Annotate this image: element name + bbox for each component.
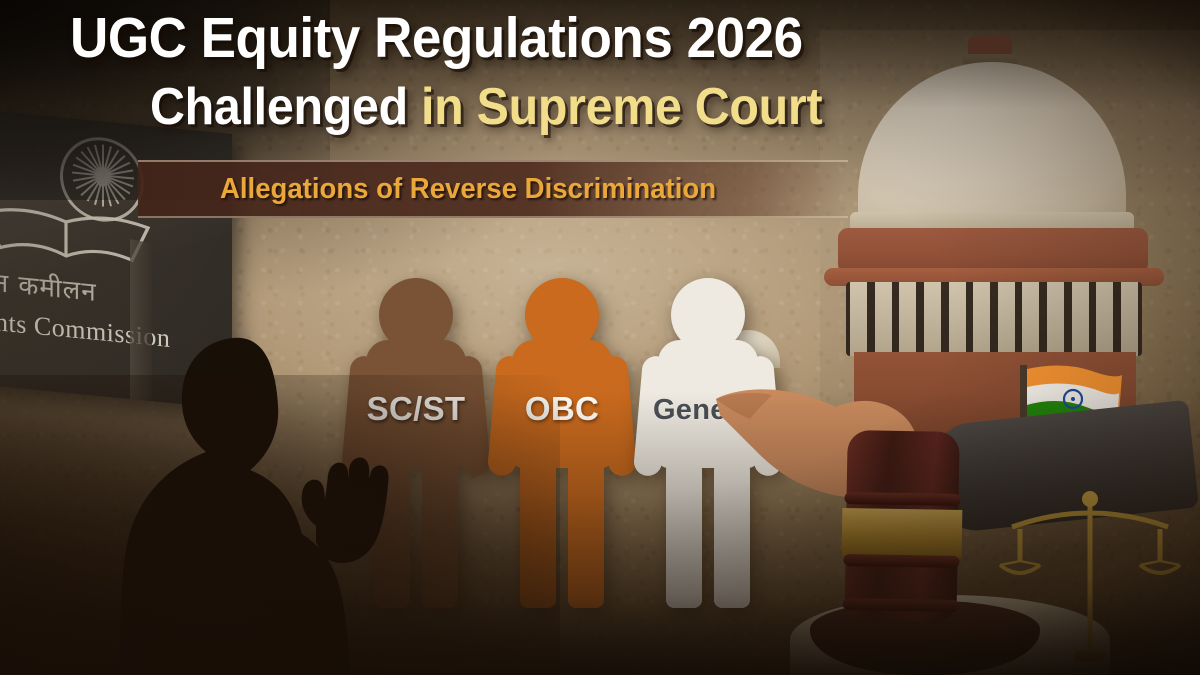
subtitle-text: Allegations of Reverse Discrimination [220,173,716,206]
news-poster: ब उणाह्रन कमीलन sity Grants Commission [0,0,1200,675]
headline-supreme-court: in Supreme Court [421,78,822,136]
headline-line-2: Challenged in Supreme Court [150,80,822,135]
page-title: UGC Equity Regulations 2026 [70,8,803,68]
subtitle-bar: Allegations of Reverse Discrimination [138,160,848,218]
headline-challenged: Challenged [150,78,421,136]
corner-shadow-bottom-left [0,375,560,675]
